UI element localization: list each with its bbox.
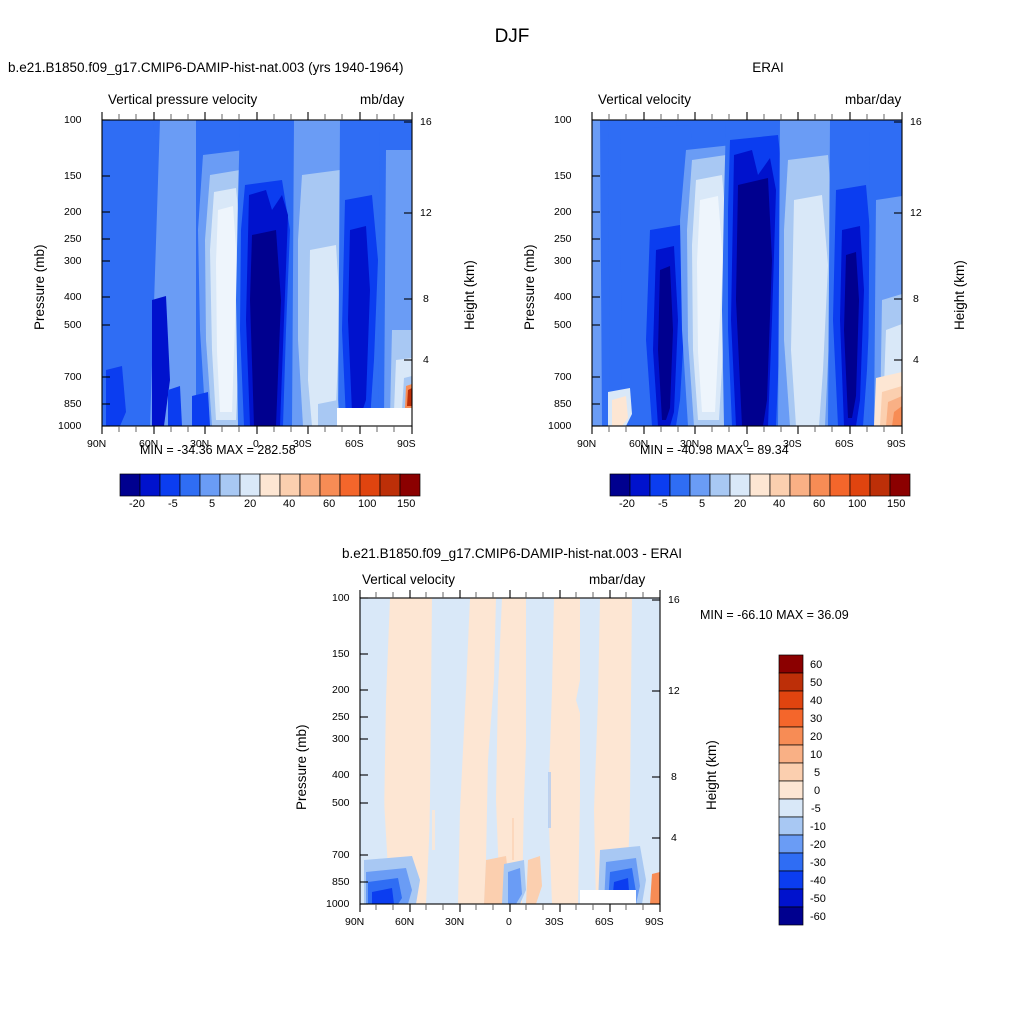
colorbar-cell [779, 799, 803, 817]
cbv-lab-13: -50 [810, 893, 826, 905]
ytick-m-5: 400 [64, 291, 82, 303]
ytick-o-9: 1000 [548, 420, 571, 432]
ytick-m-6: 500 [64, 319, 82, 331]
colorbar-cell [320, 474, 340, 496]
colorbar-cell [779, 745, 803, 763]
colorbar-cell [710, 474, 730, 496]
panel-obs-contours [592, 120, 902, 426]
y2tick-o-2: 8 [913, 293, 919, 305]
cb-o-lab-6: 100 [848, 498, 866, 510]
ytick-m-7: 700 [64, 371, 82, 383]
colorbar-cell [380, 474, 400, 496]
cbv-lab-14: -60 [810, 911, 826, 923]
colorbar-cell [779, 853, 803, 871]
cbv-lab-3: 30 [810, 713, 822, 725]
colorbar-obs-labels: -20 -5 5 20 40 60 100 150 [608, 498, 912, 514]
colorbar-cell [160, 474, 180, 496]
colorbar-cell [779, 871, 803, 889]
ytick-d-0: 100 [332, 592, 350, 604]
y2tick-d-2: 8 [671, 771, 677, 783]
ytick-o-1: 150 [554, 170, 572, 182]
ytick-d-7: 700 [332, 849, 350, 861]
ytick-m-3: 250 [64, 233, 82, 245]
colorbar-cell [730, 474, 750, 496]
xtick-d-1: 60N [395, 916, 414, 928]
ytick-o-2: 200 [554, 206, 572, 218]
y2tick-m-0: 16 [420, 116, 432, 128]
panel-diff-plot [280, 560, 720, 950]
xtick-m-0: 90N [87, 438, 106, 450]
colorbar-diff-swatches[interactable] [779, 655, 805, 925]
ytick-o-4: 300 [554, 255, 572, 267]
cb-m-lab-3: 20 [244, 498, 256, 510]
cb-o-lab-1: -5 [658, 498, 668, 510]
ytick-o-0: 100 [554, 114, 572, 126]
ytick-d-5: 400 [332, 769, 350, 781]
xtick-o-4: 30S [783, 438, 802, 450]
cbv-lab-5: 10 [810, 749, 822, 761]
colorbar-obs[interactable] [610, 474, 910, 500]
cb-m-lab-5: 60 [323, 498, 335, 510]
colorbar-cell [200, 474, 220, 496]
xtick-d-6: 90S [645, 916, 664, 928]
colorbar-cell [779, 691, 803, 709]
colorbar-model-labels: -20 -5 5 20 40 60 100 150 [118, 498, 422, 514]
ytick-o-8: 850 [554, 398, 572, 410]
colorbar-cell [830, 474, 850, 496]
colorbar-cell [779, 835, 803, 853]
cbv-lab-1: 50 [810, 677, 822, 689]
xtick-d-5: 60S [595, 916, 614, 928]
panel-model-contours [102, 120, 412, 426]
ytick-m-0: 100 [64, 114, 82, 126]
colorbar-cell [340, 474, 360, 496]
y2tick-m-2: 8 [423, 293, 429, 305]
cbv-lab-0: 60 [810, 659, 822, 671]
xtick-o-0: 90N [577, 438, 596, 450]
cb-o-lab-4: 40 [773, 498, 785, 510]
cb-m-lab-1: -5 [168, 498, 178, 510]
cbv-lab-10: -20 [810, 839, 826, 851]
colorbar-cell [779, 709, 803, 727]
cbv-lab-11: -30 [810, 857, 826, 869]
colorbar-cell [870, 474, 890, 496]
colorbar-cell [790, 474, 810, 496]
xtick-d-2: 30N [445, 916, 464, 928]
colorbar-cell [810, 474, 830, 496]
xtick-o-6: 90S [887, 438, 906, 450]
colorbar-cell [690, 474, 710, 496]
colorbar-cell [610, 474, 630, 496]
y2tick-d-3: 4 [671, 832, 677, 844]
ytick-o-6: 500 [554, 319, 572, 331]
cb-o-lab-7: 150 [887, 498, 905, 510]
xtick-d-0: 90N [345, 916, 364, 928]
colorbar-cell [779, 763, 803, 781]
colorbar-cell [260, 474, 280, 496]
ytick-o-3: 250 [554, 233, 572, 245]
colorbar-cell [779, 889, 803, 907]
y2tick-m-1: 12 [420, 207, 432, 219]
cb-m-lab-2: 5 [209, 498, 215, 510]
cbv-lab-6: 5 [814, 767, 820, 779]
cb-o-lab-3: 20 [734, 498, 746, 510]
ytick-o-5: 400 [554, 291, 572, 303]
colorbar-cell [850, 474, 870, 496]
colorbar-cell [650, 474, 670, 496]
colorbar-cell [779, 727, 803, 745]
panel-diff-svg [280, 560, 720, 950]
colorbar-cell [779, 817, 803, 835]
cbv-lab-4: 20 [810, 731, 822, 743]
colorbar-cell [140, 474, 160, 496]
cbv-lab-12: -40 [810, 875, 826, 887]
cbv-lab-9: -10 [810, 821, 826, 833]
colorbar-cell [400, 474, 420, 496]
xtick-o-3: 0 [743, 438, 749, 450]
ytick-d-8: 850 [332, 876, 350, 888]
y2tick-o-3: 4 [913, 354, 919, 366]
y2tick-o-1: 12 [910, 207, 922, 219]
colorbar-cell [280, 474, 300, 496]
colorbar-cell [220, 474, 240, 496]
xtick-o-2: 30N [680, 438, 699, 450]
colorbar-cell [360, 474, 380, 496]
cbv-lab-8: -5 [811, 803, 821, 815]
colorbar-obs-swatches[interactable] [610, 474, 910, 500]
colorbar-cell [890, 474, 910, 496]
y2tick-d-1: 12 [668, 685, 680, 697]
colorbar-diff[interactable] [779, 655, 805, 925]
colorbar-cell [779, 907, 803, 925]
xtick-d-4: 30S [545, 916, 564, 928]
colorbar-cell [779, 781, 803, 799]
xtick-m-5: 60S [345, 438, 364, 450]
cb-o-lab-5: 60 [813, 498, 825, 510]
xtick-m-3: 0 [253, 438, 259, 450]
ytick-d-6: 500 [332, 797, 350, 809]
y2tick-m-3: 4 [423, 354, 429, 366]
panel-diff-minmax: MIN = -66.10 MAX = 36.09 [700, 608, 849, 622]
xtick-m-1: 60N [139, 438, 158, 450]
cb-o-lab-2: 5 [699, 498, 705, 510]
cb-m-lab-0: -20 [129, 498, 145, 510]
cb-o-lab-0: -20 [619, 498, 635, 510]
colorbar-cell [750, 474, 770, 496]
colorbar-cell [120, 474, 140, 496]
ytick-m-1: 150 [64, 170, 82, 182]
ytick-d-2: 200 [332, 684, 350, 696]
colorbar-model-swatches[interactable] [120, 474, 420, 500]
cbv-lab-7: 0 [814, 785, 820, 797]
panel-diff-title: b.e21.B1850.f09_g17.CMIP6-DAMIP-hist-nat… [0, 546, 1024, 561]
ytick-d-3: 250 [332, 711, 350, 723]
cb-m-lab-6: 100 [358, 498, 376, 510]
xtick-d-3: 0 [506, 916, 512, 928]
ytick-m-2: 200 [64, 206, 82, 218]
cb-m-lab-4: 40 [283, 498, 295, 510]
xtick-m-4: 30S [293, 438, 312, 450]
cbv-lab-2: 40 [810, 695, 822, 707]
colorbar-cell [770, 474, 790, 496]
ytick-m-9: 1000 [58, 420, 81, 432]
y2tick-d-0: 16 [668, 594, 680, 606]
colorbar-cell [180, 474, 200, 496]
ytick-d-9: 1000 [326, 898, 349, 910]
colorbar-cell [670, 474, 690, 496]
colorbar-model[interactable] [120, 474, 420, 500]
ytick-d-4: 300 [332, 733, 350, 745]
ytick-m-4: 300 [64, 255, 82, 267]
colorbar-cell [240, 474, 260, 496]
colorbar-cell [300, 474, 320, 496]
ytick-m-8: 850 [64, 398, 82, 410]
xtick-o-5: 60S [835, 438, 854, 450]
ytick-o-7: 700 [554, 371, 572, 383]
ytick-d-1: 150 [332, 648, 350, 660]
xtick-o-1: 60N [629, 438, 648, 450]
colorbar-cell [779, 673, 803, 691]
colorbar-cell [630, 474, 650, 496]
panel-diff-contours [360, 598, 660, 904]
cb-m-lab-7: 150 [397, 498, 415, 510]
xtick-m-6: 90S [397, 438, 416, 450]
xtick-m-2: 30N [190, 438, 209, 450]
colorbar-cell [779, 655, 803, 673]
y2tick-o-0: 16 [910, 116, 922, 128]
